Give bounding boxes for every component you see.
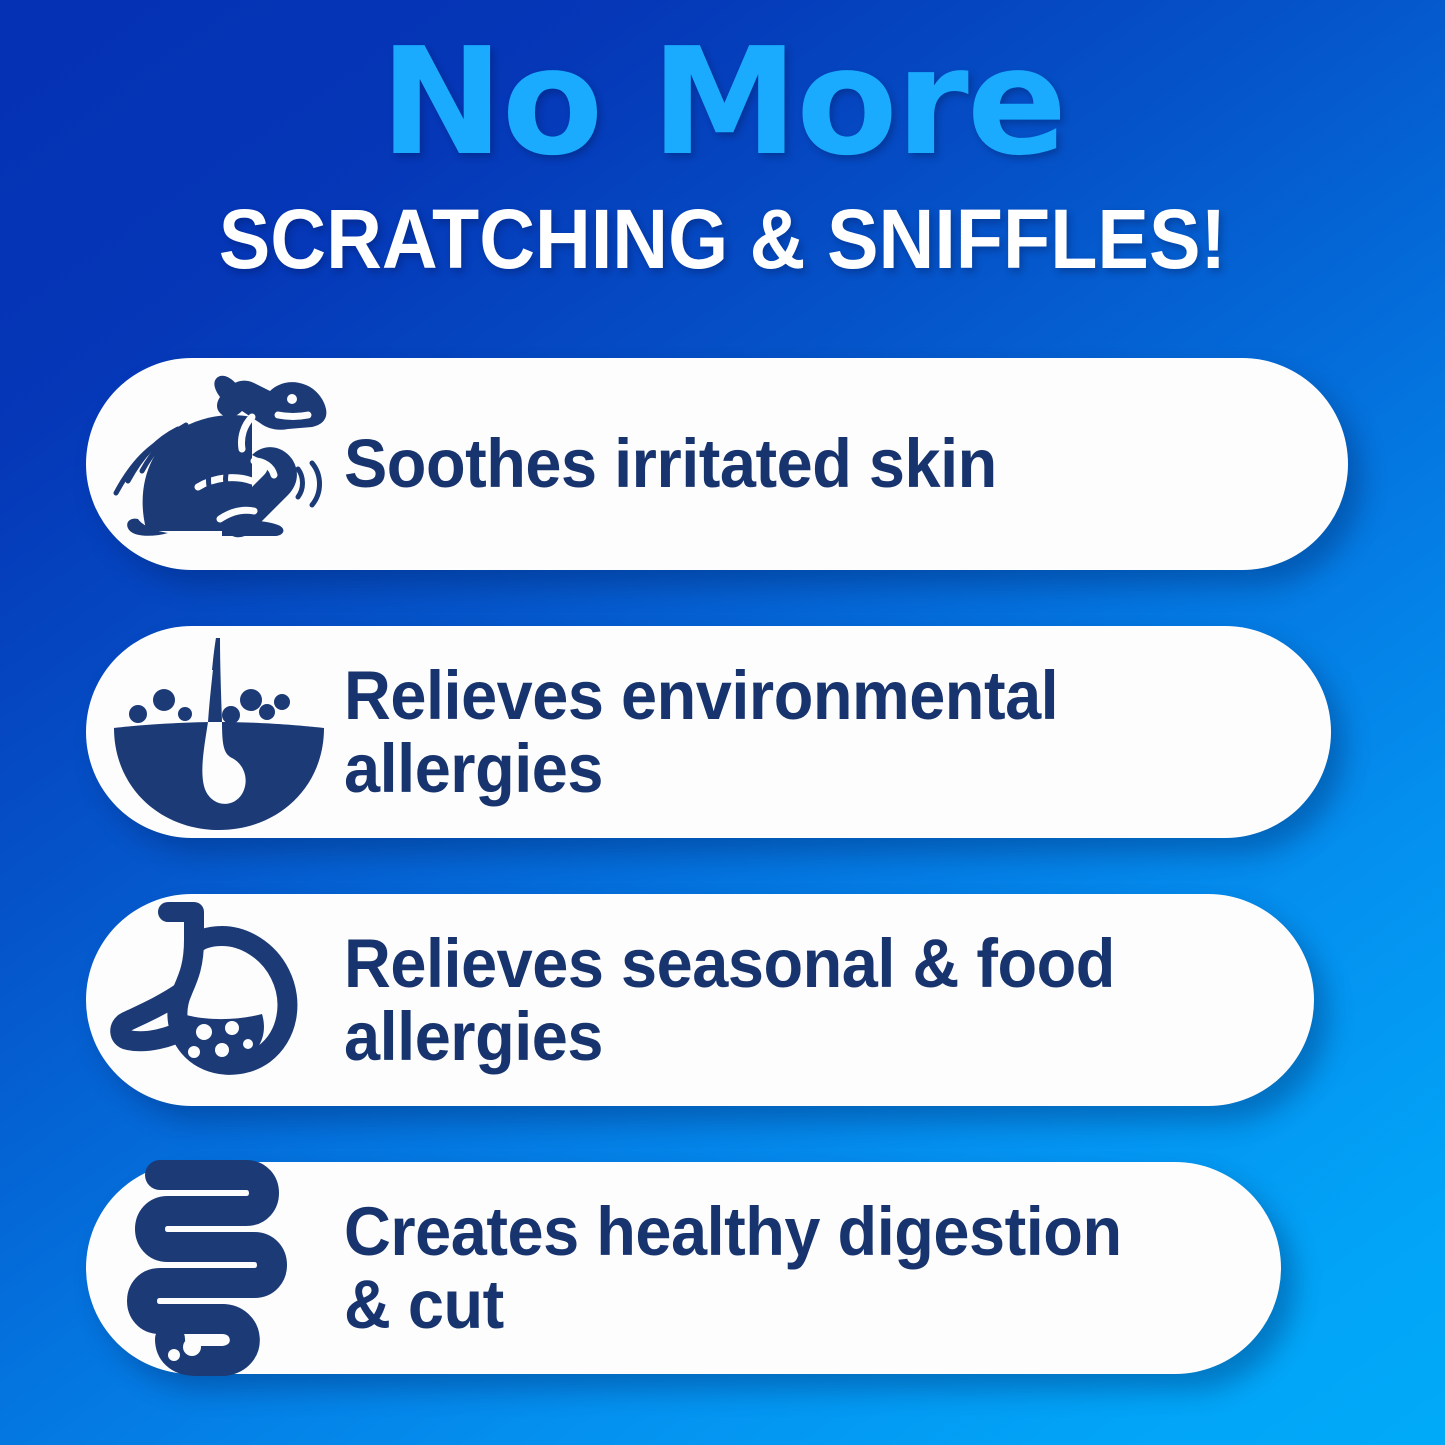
benefit-card-soothes-irritated-skin: Soothes irritated skin bbox=[86, 358, 1348, 570]
scratching-dog-icon bbox=[94, 358, 344, 570]
benefit-text-line: allergies bbox=[344, 1000, 1214, 1073]
poster-header: No More SCRATCHING & SNIFFLES! bbox=[0, 30, 1445, 281]
benefit-text: Relieves environmental allergies bbox=[344, 659, 1272, 805]
hair-follicle-skin-icon bbox=[94, 626, 344, 838]
benefit-card-relieves-environmental-allergies: Relieves environmental allergies bbox=[86, 626, 1331, 838]
benefit-card-relieves-seasonal-food-allergies: Relieves seasonal & food allergies bbox=[86, 894, 1314, 1106]
intestine-icon bbox=[94, 1162, 344, 1374]
benefit-text: Soothes irritated skin bbox=[344, 427, 1288, 500]
stomach-icon bbox=[94, 894, 344, 1106]
benefit-card-list: Soothes irritated skin bbox=[86, 358, 1376, 1430]
page-subtitle: SCRATCHING & SNIFFLES! bbox=[58, 197, 1387, 281]
promo-poster: No More SCRATCHING & SNIFFLES! bbox=[0, 0, 1445, 1445]
page-title: No More bbox=[0, 30, 1445, 175]
benefit-text-line: Creates healthy digestion bbox=[344, 1195, 1183, 1268]
benefit-text-line: Relieves seasonal & food bbox=[344, 927, 1214, 1000]
benefit-text-line: & cut bbox=[344, 1268, 1183, 1341]
benefit-text: Creates healthy digestion & cut bbox=[344, 1195, 1225, 1341]
benefit-text-line: Relieves environmental bbox=[344, 659, 1230, 732]
benefit-text-line: allergies bbox=[344, 732, 1230, 805]
benefit-card-creates-healthy-digestion: Creates healthy digestion & cut bbox=[86, 1162, 1281, 1374]
benefit-text-line: Soothes irritated skin bbox=[344, 427, 1246, 500]
benefit-text: Relieves seasonal & food allergies bbox=[344, 927, 1256, 1073]
